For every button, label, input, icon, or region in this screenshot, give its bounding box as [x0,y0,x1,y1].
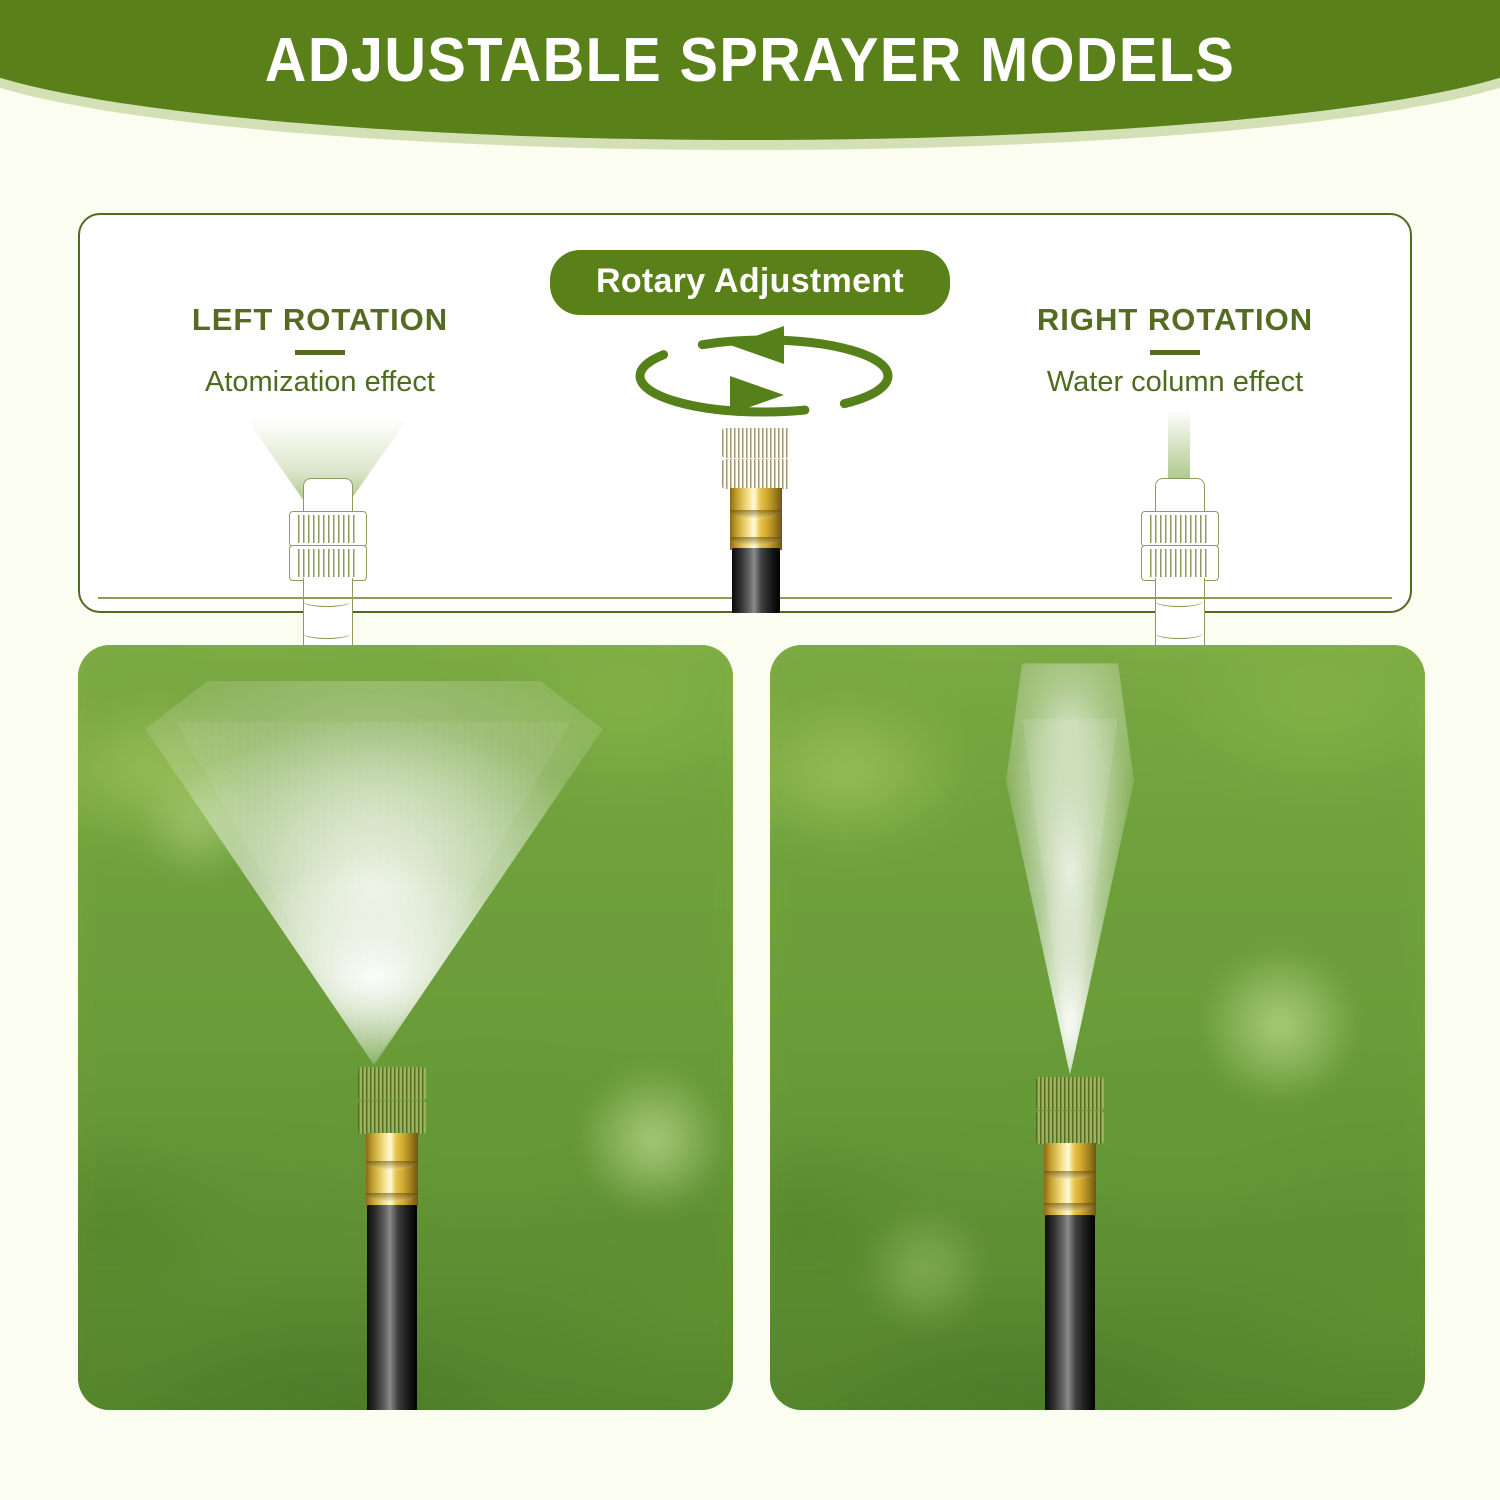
black-tube [732,548,780,613]
water-column-photo [770,645,1425,1410]
brass-cap [368,1033,416,1069]
left-rotation-subtitle: Atomization effect [110,366,530,399]
knurl-lines [1150,549,1210,577]
knurl-texture [358,1067,426,1100]
bokeh-highlight [578,1065,728,1215]
brass-nozzle-icon [354,1033,430,1410]
knurl-texture [1036,1077,1104,1110]
left-divider [295,350,345,355]
black-tube [1045,1215,1095,1410]
brass-knurl-ring-1 [1036,1077,1104,1110]
knurl-texture [722,459,790,489]
brass-nozzle-icon [1032,1043,1108,1410]
left-outline-nozzle-icon [279,478,375,650]
brass-knurl-ring-2 [358,1101,426,1134]
brass-knurl-ring-1 [722,428,790,458]
page-header: ADJUSTABLE SPRAYER MODELS [0,0,1500,152]
brass-knurl-ring-2 [722,459,790,489]
nozzle-cap [1155,478,1205,515]
center-brass-nozzle-icon [718,398,794,613]
knurl-lines [298,515,358,543]
nozzle-knurl-ring-2 [289,545,367,581]
right-rotation-title: RIGHT ROTATION [965,303,1385,337]
right-rotation-heading-group: RIGHT ROTATION Water column effect [965,303,1385,399]
page-title: ADJUSTABLE SPRAYER MODELS [53,30,1448,92]
nozzle-cap [303,478,353,515]
knurl-texture [722,428,790,458]
nozzle-knurl-ring-1 [1141,511,1219,547]
nozzle-groove-2 [303,628,351,639]
brass-cap [1046,1043,1094,1079]
black-tube [367,1205,417,1410]
brass-cap [732,398,780,430]
bokeh-highlight [1200,945,1360,1105]
rotary-adjustment-badge: Rotary Adjustment [550,250,950,315]
right-divider [1150,350,1200,355]
nozzle-knurl-ring-1 [289,511,367,547]
knurl-texture [358,1101,426,1134]
bokeh-highlight [860,1205,990,1335]
nozzle-body [303,578,353,650]
knurl-texture [1036,1111,1104,1144]
atomization-spray-photo [78,645,733,1410]
left-rotation-heading-group: LEFT ROTATION Atomization effect [110,303,530,399]
left-rotation-title: LEFT ROTATION [110,303,530,337]
nozzle-body [1155,578,1205,650]
nozzle-knurl-ring-2 [1141,545,1219,581]
right-rotation-subtitle: Water column effect [965,366,1385,399]
brass-knurl-ring-2 [1036,1111,1104,1144]
knurl-lines [298,549,358,577]
nozzle-groove-2 [1155,628,1203,639]
knurl-lines [1150,515,1210,543]
right-outline-nozzle-icon [1131,478,1227,650]
brass-knurl-ring-1 [358,1067,426,1100]
